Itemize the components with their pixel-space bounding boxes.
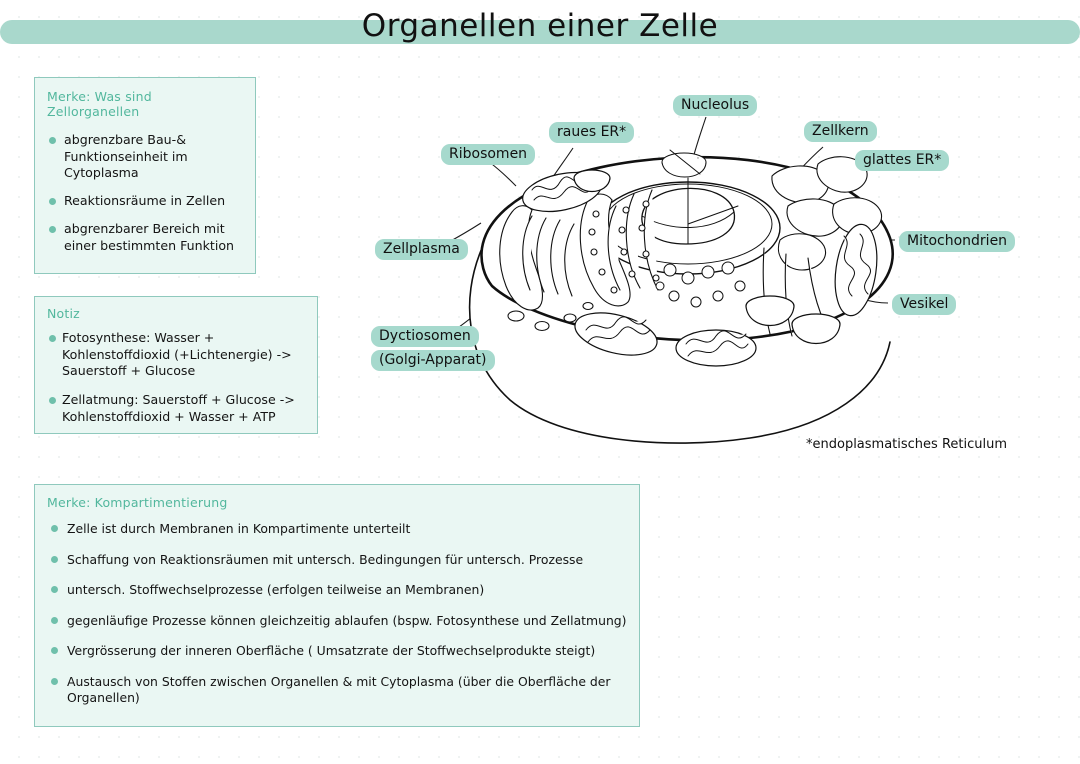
label-dyctiosomen-line2: (Golgi-Apparat) bbox=[371, 350, 495, 371]
notebook-page: Organellen einer Zelle Merke: Was sind Z… bbox=[0, 0, 1080, 764]
label-glattes-er: glattes ER* bbox=[855, 150, 949, 171]
label-dyctiosomen-line1: Dyctiosomen bbox=[371, 326, 479, 347]
label-dyctiosomen: Dyctiosomen (Golgi-Apparat) bbox=[371, 326, 495, 374]
label-ribosomen: Ribosomen bbox=[441, 144, 535, 165]
label-zellkern: Zellkern bbox=[804, 121, 877, 142]
label-mitochondrien: Mitochondrien bbox=[899, 231, 1015, 252]
label-raues-er: raues ER* bbox=[549, 122, 634, 143]
label-vesikel: Vesikel bbox=[892, 294, 956, 315]
footnote-endoplasmatisches-reticulum: *endoplasmatisches Reticulum bbox=[806, 437, 1007, 452]
label-nucleolus: Nucleolus bbox=[673, 95, 757, 116]
label-zellplasma: Zellplasma bbox=[375, 239, 468, 260]
